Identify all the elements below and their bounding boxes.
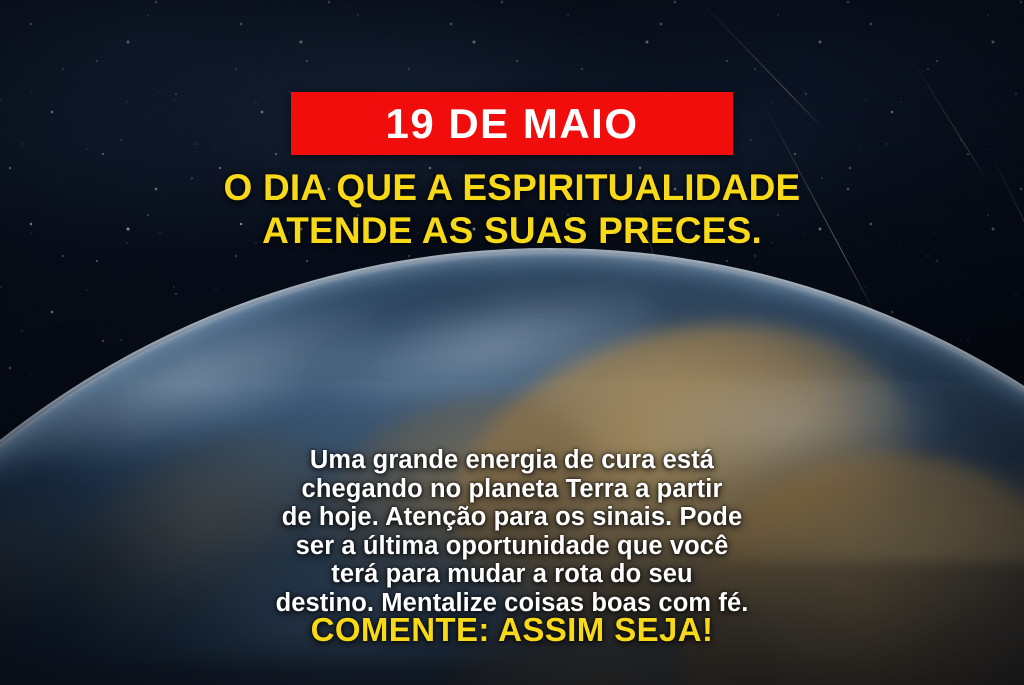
- headline-line-1: O DIA QUE A ESPIRITUALIDADE: [58, 166, 966, 209]
- body-line-2: chegando no planeta Terra a partir: [62, 475, 962, 504]
- poster-canvas: 19 DE MAIO O DIA QUE A ESPIRITUALIDADE A…: [0, 0, 1024, 685]
- headline: O DIA QUE A ESPIRITUALIDADE ATENDE AS SU…: [0, 166, 1024, 253]
- body-line-5: terá para mudar a rota do seu: [62, 560, 962, 589]
- body-line-4: ser a última oportunidade que você: [62, 532, 962, 561]
- call-to-action-label: COMENTE: ASSIM SEJA!: [0, 612, 1024, 648]
- date-banner: 19 DE MAIO: [291, 92, 733, 155]
- body-line-1: Uma grande energia de cura está: [62, 446, 962, 475]
- date-banner-label: 19 DE MAIO: [385, 103, 638, 145]
- body-line-3: de hoje. Atenção para os sinais. Pode: [62, 503, 962, 532]
- body-copy: Uma grande energia de cura está chegando…: [0, 446, 1024, 617]
- headline-line-2: ATENDE AS SUAS PRECES.: [58, 209, 966, 252]
- poster-content: 19 DE MAIO O DIA QUE A ESPIRITUALIDADE A…: [0, 0, 1024, 685]
